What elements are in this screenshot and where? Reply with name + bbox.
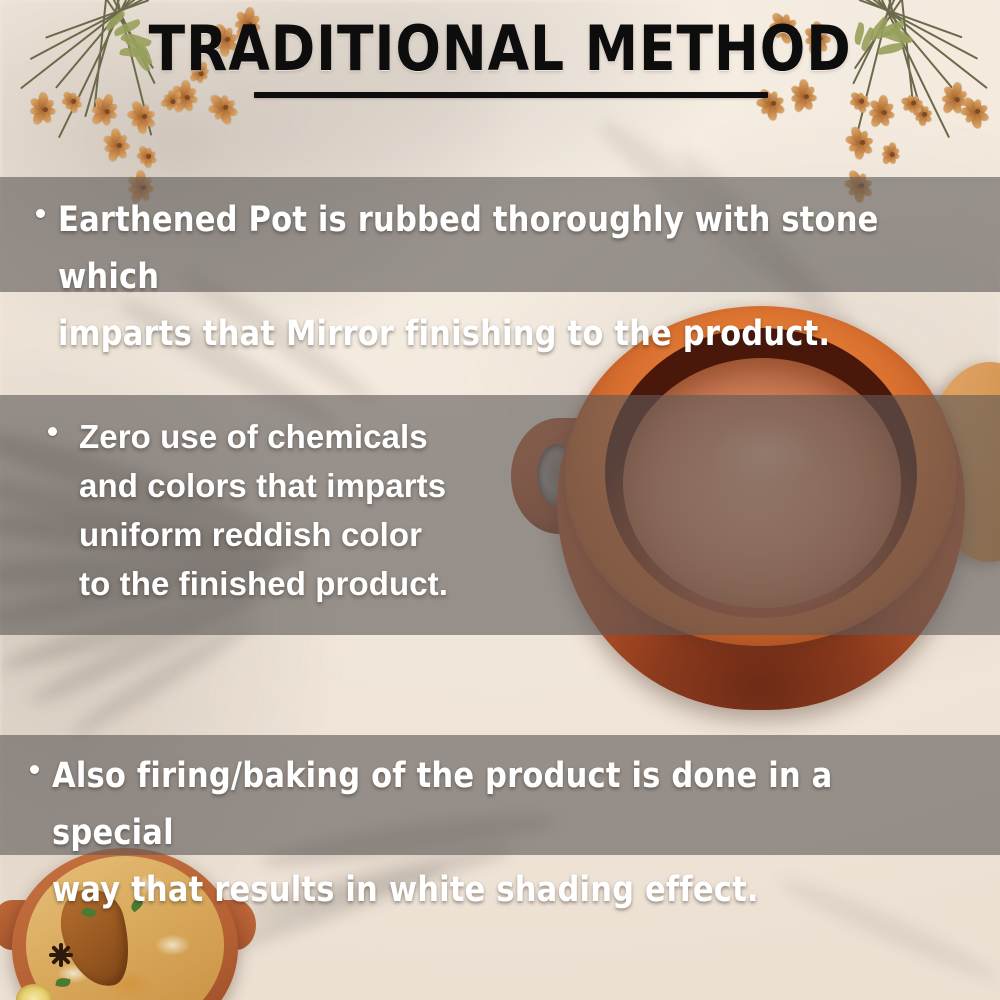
page-title: TRADITIONAL METHOD [148,18,851,80]
dried-flower [958,92,995,129]
bullet-text-2: Zero use of chemicals and colors that im… [79,412,448,608]
bullet-item-1: Earthened Pot is rubbed thoroughly with … [36,192,976,363]
bullet-dot-icon [36,209,45,218]
dried-flower [755,85,791,121]
dried-flower [131,139,166,174]
bullet-item-3: Also firing/baking of the product is don… [30,748,980,919]
page-title-wrap: TRADITIONAL METHOD [0,18,1000,80]
title-underline [254,92,768,98]
dried-flower [205,87,244,126]
bullet-dot-icon [30,765,39,774]
dried-flower [844,124,879,159]
bullet-text-3: Also firing/baking of the product is don… [52,748,952,919]
star-anise [48,942,74,968]
bullet-text-1: Earthened Pot is rubbed thoroughly with … [58,192,948,363]
dried-flower [87,91,127,131]
bullet-dot-icon [48,427,57,436]
dried-flower [874,136,909,171]
bullet-item-2: Zero use of chemicals and colors that im… [48,412,518,608]
infographic-canvas: TRADITIONAL METHOD Earthened Pot is rubb… [0,0,1000,1000]
